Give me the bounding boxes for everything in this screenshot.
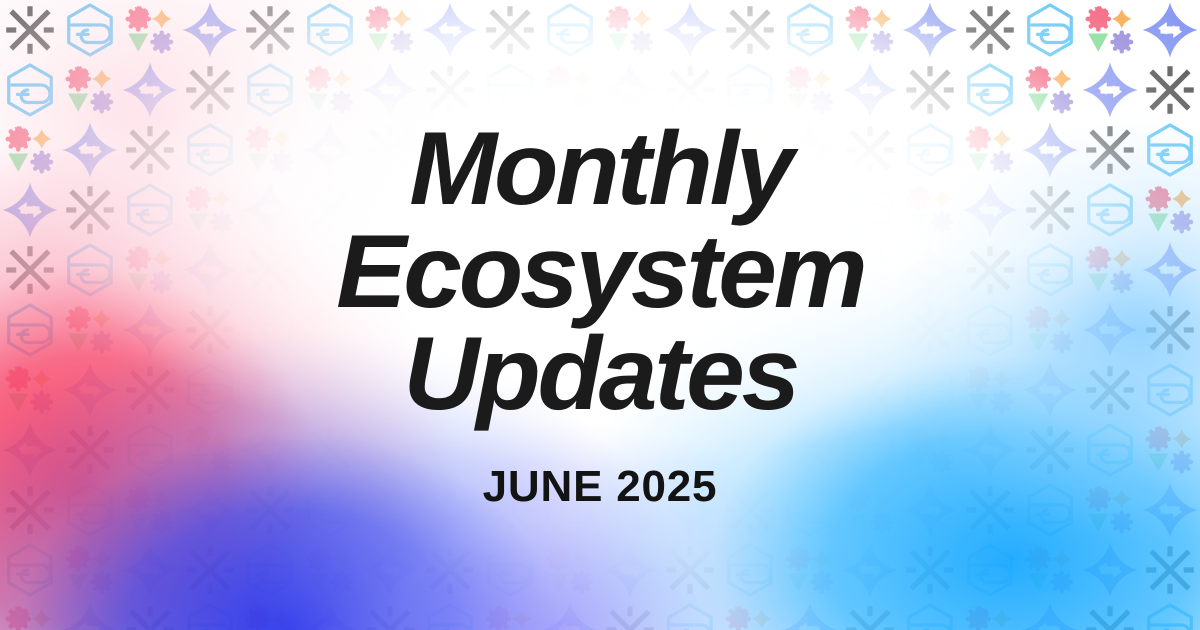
headline-line-2: Ecosystem [336,221,864,324]
banner-content: Monthly Ecosystem Updates JUNE 2025 [0,0,1200,630]
banner-subtitle: JUNE 2025 [483,462,718,512]
headline-line-1: Monthly [336,118,864,221]
ecosystem-update-banner: Monthly Ecosystem Updates JUNE 2025 [0,0,1200,630]
headline-line-3: Updates [336,323,864,426]
page-title: Monthly Ecosystem Updates [295,118,904,427]
